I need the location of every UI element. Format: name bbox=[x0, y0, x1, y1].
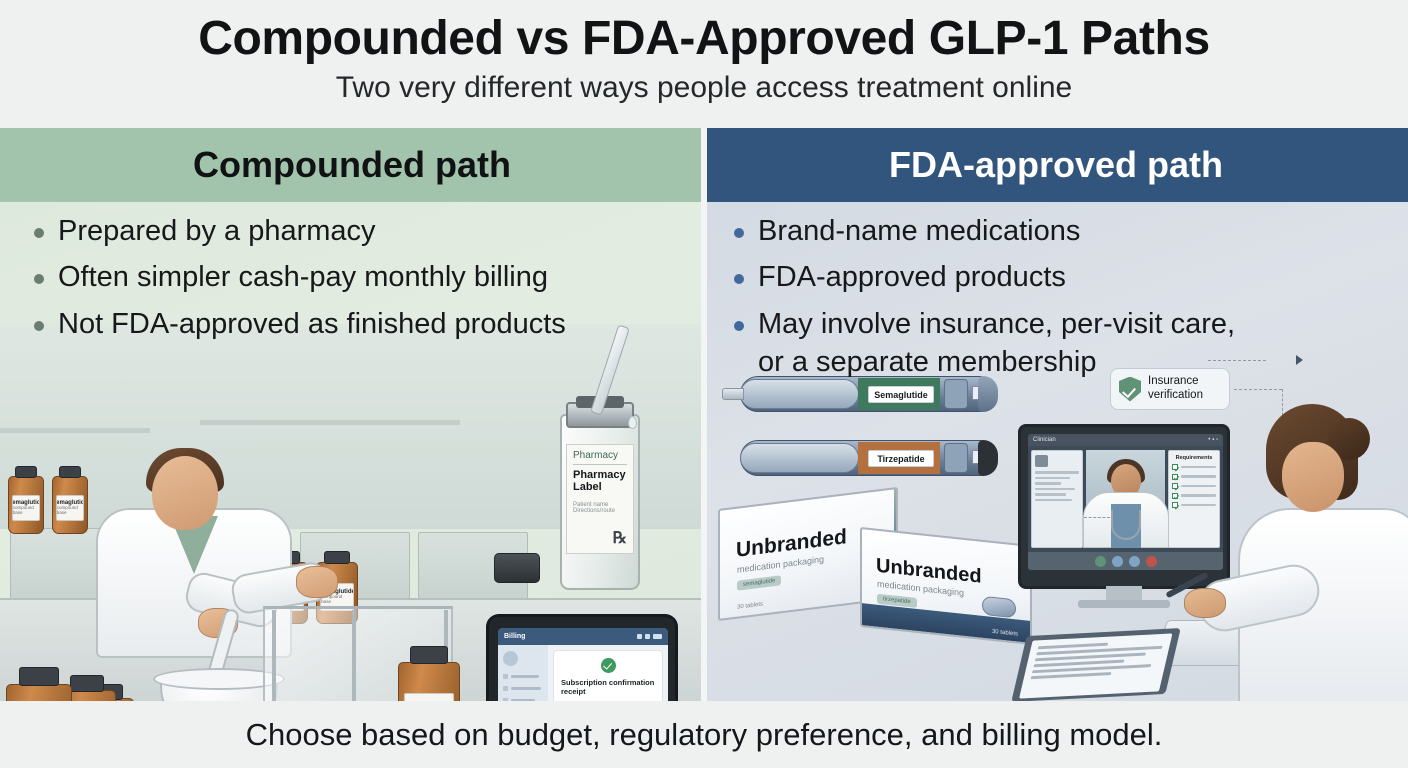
receipt-card: Subscription confirmation receipt bbox=[553, 650, 663, 701]
video-window-titlebar: Clinician • ▪ ▫ bbox=[1028, 434, 1223, 446]
compounded-path-panel: Semaglutide compound base Semaglutide co… bbox=[0, 128, 704, 701]
counter-bottle: Semaglutide compound base bbox=[6, 684, 72, 701]
sidebar-item[interactable] bbox=[503, 698, 543, 701]
bullet-dot-icon bbox=[734, 228, 744, 238]
bullet-dot-icon bbox=[734, 321, 744, 331]
bottle-label: Semaglutide compound base bbox=[56, 495, 85, 521]
pharmacist-hand bbox=[296, 566, 338, 598]
window-controls[interactable]: • ▪ ▫ bbox=[1208, 437, 1218, 443]
pill-graphic bbox=[982, 596, 1016, 619]
sidebar-item-label bbox=[511, 687, 541, 690]
bullet-dot-icon bbox=[734, 274, 744, 284]
fda-approved-path-title: FDA-approved path bbox=[889, 147, 1223, 183]
list-item-label: FDA-approved products bbox=[758, 258, 1066, 296]
vial-loose-cap bbox=[494, 553, 540, 583]
pen-plunger bbox=[978, 440, 998, 476]
billing-tablet[interactable]: Billing bbox=[486, 614, 678, 701]
bullet-dot-icon bbox=[34, 274, 44, 284]
bottle-label-sub: compound base bbox=[57, 506, 84, 515]
clipboard-form bbox=[1019, 633, 1172, 698]
pharmacy-label: Pharmacy Pharmacy Label Patient name Dir… bbox=[566, 444, 634, 554]
bottle-label: Semaglutide compound base bbox=[12, 495, 41, 521]
medication-box-count: 30 tablets bbox=[737, 602, 763, 611]
shelf bbox=[0, 428, 150, 433]
list-item-label: Prepared by a pharmacy bbox=[58, 212, 376, 250]
bottle-cap bbox=[59, 466, 81, 478]
bottle-cap bbox=[324, 551, 350, 564]
shield-post bbox=[352, 610, 356, 701]
compounded-path-band: Compounded path bbox=[0, 128, 704, 202]
page-title: Compounded vs FDA-Approved GLP-1 Paths bbox=[198, 14, 1210, 65]
clinician-video-feed bbox=[1086, 450, 1165, 548]
fda-approved-path-bullets: Brand-name medications FDA-approved prod… bbox=[734, 212, 1374, 389]
shelf-bottle: Semaglutide compound base bbox=[52, 476, 88, 534]
bottle-cap bbox=[19, 667, 59, 686]
shelf-bottle: Semaglutide compound base bbox=[8, 476, 44, 534]
monitor-screen: Clinician • ▪ ▫ bbox=[1028, 434, 1223, 570]
pen-needle-tip bbox=[722, 388, 744, 400]
pen-dose-dial[interactable] bbox=[944, 443, 968, 473]
list-icon bbox=[503, 674, 508, 679]
bullet-dot-icon bbox=[34, 228, 44, 238]
list-item: Often simpler cash-pay monthly billing bbox=[34, 258, 674, 296]
droplet bbox=[628, 416, 637, 429]
counter-bottle: Semaglutide compound base bbox=[398, 662, 460, 701]
checkbox-icon[interactable] bbox=[1172, 483, 1178, 489]
poster-footer: Choose based on budget, regulatory prefe… bbox=[0, 701, 1408, 768]
list-item-label: May involve insurance, per-visit care, o… bbox=[758, 305, 1235, 382]
checklist-title: Requirements bbox=[1172, 455, 1216, 461]
list-icon bbox=[503, 686, 508, 691]
bullet-dot-icon bbox=[34, 321, 44, 331]
injection-pen: Tirzepatide bbox=[740, 440, 998, 476]
person-hand bbox=[1184, 588, 1226, 618]
checklist-item[interactable] bbox=[1172, 493, 1216, 499]
rx-icon: ℞ bbox=[613, 528, 627, 548]
insurance-badge-line2: verification bbox=[1148, 389, 1203, 401]
shield-post bbox=[272, 610, 276, 701]
infographic-poster: Compounded vs FDA-Approved GLP-1 Paths T… bbox=[0, 0, 1408, 768]
connector-line bbox=[1234, 389, 1282, 390]
requirements-checklist: Requirements bbox=[1168, 450, 1220, 548]
sidebar-item[interactable] bbox=[503, 686, 543, 691]
pharmacy-label-header: Pharmacy bbox=[573, 450, 627, 465]
tablet-screen: Billing bbox=[498, 628, 668, 701]
checklist-item[interactable] bbox=[1172, 502, 1216, 508]
signal-icon bbox=[645, 634, 650, 639]
patient-record-panel bbox=[1031, 450, 1083, 548]
status-icons bbox=[637, 634, 662, 639]
fda-approved-path-band: FDA-approved path bbox=[704, 128, 1408, 202]
checklist-item[interactable] bbox=[1172, 464, 1216, 470]
list-item-label: Brand-name medications bbox=[758, 212, 1080, 250]
medication-box-chip: semaglutide bbox=[737, 575, 781, 590]
list-item: FDA-approved products bbox=[734, 258, 1374, 296]
poster-header: Compounded vs FDA-Approved GLP-1 Paths T… bbox=[0, 0, 1408, 128]
receipt-title: Subscription confirmation receipt bbox=[561, 678, 655, 697]
compounded-path-title: Compounded path bbox=[193, 147, 511, 183]
video-window-title: Clinician bbox=[1033, 437, 1056, 443]
stethoscope-icon bbox=[1111, 510, 1141, 540]
list-item: Brand-name medications bbox=[734, 212, 1374, 250]
shelf bbox=[200, 420, 460, 425]
pharmacist-head bbox=[152, 456, 218, 530]
medication-box: Unbranded medication packaging tirzepati… bbox=[860, 527, 1032, 645]
bottle-label-sub: compound base bbox=[13, 506, 40, 515]
pen-barrel bbox=[740, 443, 859, 473]
checkbox-icon[interactable] bbox=[1172, 502, 1178, 508]
telehealth-monitor[interactable]: Clinician • ▪ ▫ bbox=[1018, 424, 1230, 589]
bottle-cap bbox=[410, 646, 448, 664]
list-item: Not FDA-approved as finished products bbox=[34, 305, 674, 343]
call-controls[interactable] bbox=[1028, 552, 1223, 570]
camera-button[interactable] bbox=[1112, 556, 1123, 567]
checkbox-icon[interactable] bbox=[1172, 474, 1178, 480]
tablet-sidebar[interactable] bbox=[498, 645, 548, 701]
list-item: Prepared by a pharmacy bbox=[34, 212, 674, 250]
pharmacy-label-title: Pharmacy Label bbox=[573, 469, 627, 494]
pen-label: Tirzepatide bbox=[868, 450, 934, 467]
list-icon bbox=[503, 698, 508, 701]
list-item: May involve insurance, per-visit care, o… bbox=[734, 305, 1374, 382]
pharmacy-label-fineprint: Patient name Directions/route bbox=[573, 502, 627, 515]
battery-icon bbox=[653, 634, 662, 639]
list-item-label: Often simpler cash-pay monthly billing bbox=[58, 258, 548, 296]
sidebar-item[interactable] bbox=[503, 674, 543, 679]
list-item-label: Not FDA-approved as finished products bbox=[58, 305, 566, 343]
clipboard bbox=[1011, 628, 1181, 701]
checkbox-icon[interactable] bbox=[1172, 464, 1178, 470]
person-face bbox=[1282, 442, 1344, 512]
page-subtitle: Two very different ways people access tr… bbox=[336, 71, 1073, 104]
checkbox-icon[interactable] bbox=[1172, 493, 1178, 499]
clinician-at-desk bbox=[1242, 404, 1408, 701]
success-check-icon bbox=[601, 658, 616, 673]
tablet-app-bar: Billing bbox=[498, 628, 668, 645]
sidebar-item-label bbox=[511, 675, 539, 678]
tablet-body: Subscription confirmation receipt bbox=[498, 645, 668, 701]
avatar bbox=[503, 651, 518, 666]
patient-photo bbox=[1035, 455, 1048, 467]
bottle-label: Semaglutide compound base bbox=[404, 693, 454, 701]
fda-approved-path-panel: Semaglutide Tirzepatide bbox=[704, 128, 1408, 701]
share-button[interactable] bbox=[1129, 556, 1140, 567]
monitor-stand-foot bbox=[1078, 600, 1170, 608]
connector-line bbox=[1084, 517, 1110, 518]
tablet-app-title: Billing bbox=[504, 633, 525, 640]
checklist-item[interactable] bbox=[1172, 474, 1216, 480]
panel-divider bbox=[701, 128, 707, 701]
checklist-item[interactable] bbox=[1172, 483, 1216, 489]
mic-button[interactable] bbox=[1095, 556, 1106, 567]
bottle-cap bbox=[70, 675, 104, 692]
compounded-path-bullets: Prepared by a pharmacy Often simpler cas… bbox=[34, 212, 674, 351]
bottle-cap bbox=[15, 466, 37, 478]
wifi-icon bbox=[637, 634, 642, 639]
footer-caption: Choose based on budget, regulatory prefe… bbox=[246, 717, 1163, 753]
monitor-content: Requirements bbox=[1028, 446, 1223, 552]
sidebar-item-label bbox=[511, 699, 535, 701]
end-call-button[interactable] bbox=[1146, 556, 1157, 567]
comparison-panels: Semaglutide compound base Semaglutide co… bbox=[0, 128, 1408, 701]
